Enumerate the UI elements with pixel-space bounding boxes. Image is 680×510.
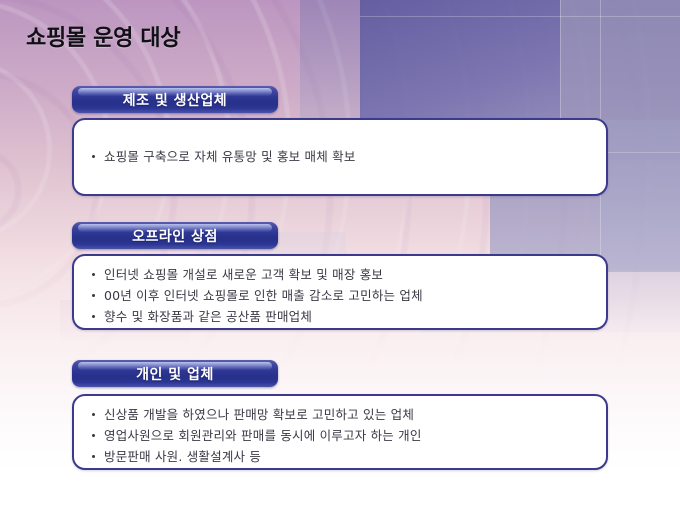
content-box-offline-stores: 인터넷 쇼핑몰 개설로 새로운 고객 확보 및 매장 홍보 00년 이후 인터넷… — [72, 254, 608, 330]
list-item: 방문판매 사원. 생활설계사 등 — [88, 446, 606, 467]
list-item: 00년 이후 인터넷 쇼핑몰로 인한 매출 감소로 고민하는 업체 — [88, 285, 606, 306]
list-item: 신상품 개발을 하였으나 판매망 확보로 고민하고 있는 업체 — [88, 404, 606, 425]
section-banner-label: 제조 및 생산업체 — [72, 90, 278, 110]
list-item: 영업사원으로 회원관리와 판매를 동시에 이루고자 하는 개인 — [88, 425, 606, 446]
bullet-list: 인터넷 쇼핑몰 개설로 새로운 고객 확보 및 매장 홍보 00년 이후 인터넷… — [74, 256, 606, 327]
content-box-individuals: 신상품 개발을 하였으나 판매망 확보로 고민하고 있는 업체 영업사원으로 회… — [72, 394, 608, 470]
section-banner-label: 오프라인 상점 — [72, 226, 278, 246]
content-box-manufacturers: 쇼핑몰 구축으로 자체 유통망 및 홍보 매체 확보 — [72, 118, 608, 196]
list-item: 쇼핑몰 구축으로 자체 유통망 및 홍보 매체 확보 — [88, 146, 606, 167]
background-divider-line — [360, 16, 680, 17]
section-banner-individuals: 개인 및 업체 — [72, 360, 278, 387]
bullet-list: 신상품 개발을 하였으나 판매망 확보로 고민하고 있는 업체 영업사원으로 회… — [74, 396, 606, 467]
background-block-accent-1 — [300, 0, 362, 120]
bullet-list: 쇼핑몰 구축으로 자체 유통망 및 홍보 매체 확보 — [74, 120, 606, 167]
slide-title: 쇼핑몰 운영 대상 — [26, 20, 180, 52]
presentation-slide: 쇼핑몰 운영 대상 제조 및 생산업체 쇼핑몰 구축으로 자체 유통망 및 홍보… — [0, 0, 680, 510]
section-banner-manufacturers: 제조 및 생산업체 — [72, 86, 278, 113]
background-block-accent-5 — [600, 120, 680, 270]
section-banner-offline-stores: 오프라인 상점 — [72, 222, 278, 249]
list-item: 향수 및 화장품과 같은 공산품 판매업체 — [88, 306, 606, 327]
section-banner-label: 개인 및 업체 — [72, 364, 278, 384]
list-item: 인터넷 쇼핑몰 개설로 새로운 고객 확보 및 매장 홍보 — [88, 264, 606, 285]
